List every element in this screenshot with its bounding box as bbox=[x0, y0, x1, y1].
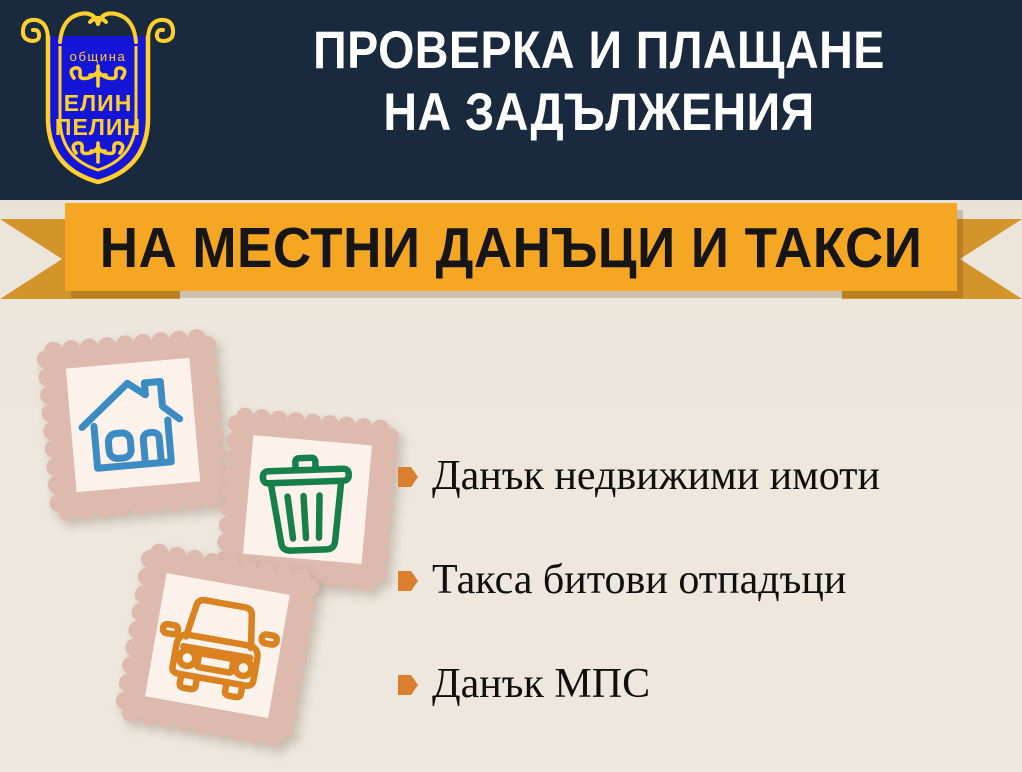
ribbon-band: НА МЕСТНИ ДАНЪЦИ И ТАКСИ bbox=[65, 203, 957, 291]
municipality-crest: община ЕЛИН ПЕЛИН bbox=[18, 8, 178, 190]
bullet-arrow-icon bbox=[398, 569, 418, 593]
crest-label-top: община bbox=[70, 49, 127, 64]
crest-label-line-2: ПЕЛИН bbox=[55, 114, 141, 140]
list-item: Данък МПС bbox=[398, 632, 1008, 736]
page-title: ПРОВЕРКА И ПЛАЩАНЕ НА ЗАДЪЛЖЕНИЯ bbox=[236, 20, 963, 144]
stamp-car bbox=[100, 528, 335, 763]
coat-of-arms-icon: община ЕЛИН ПЕЛИН bbox=[18, 8, 178, 190]
page-title-line-2: НА ЗАДЪЛЖЕНИЯ bbox=[236, 82, 963, 144]
list-item-label: Данък недвижими имоти bbox=[432, 452, 1008, 500]
list-item: Такса битови отпадъци bbox=[398, 528, 1008, 632]
list-item-label: Такса битови отпадъци bbox=[432, 556, 1008, 604]
ribbon-banner: НА МЕСТНИ ДАНЪЦИ И ТАКСИ bbox=[0, 197, 1022, 307]
bullet-arrow-icon bbox=[398, 465, 418, 489]
list-item-label: Данък МПС bbox=[432, 660, 1008, 708]
crest-label-line-1: ЕЛИН bbox=[64, 90, 133, 116]
tax-types-list: Данък недвижими имоти Такса битови отпад… bbox=[398, 424, 1008, 736]
page-title-line-1: ПРОВЕРКА И ПЛАЩАНЕ bbox=[313, 21, 885, 80]
poster-canvas: ПРОВЕРКА И ПЛАЩАНЕ НА ЗАДЪЛЖЕНИЯ об bbox=[0, 0, 1022, 772]
stamp-card-vehicle bbox=[100, 528, 335, 768]
ribbon-label: НА МЕСТНИ ДАНЪЦИ И ТАКСИ bbox=[96, 203, 926, 291]
list-item: Данък недвижими имоти bbox=[398, 424, 1008, 528]
bullet-arrow-icon bbox=[398, 673, 418, 697]
